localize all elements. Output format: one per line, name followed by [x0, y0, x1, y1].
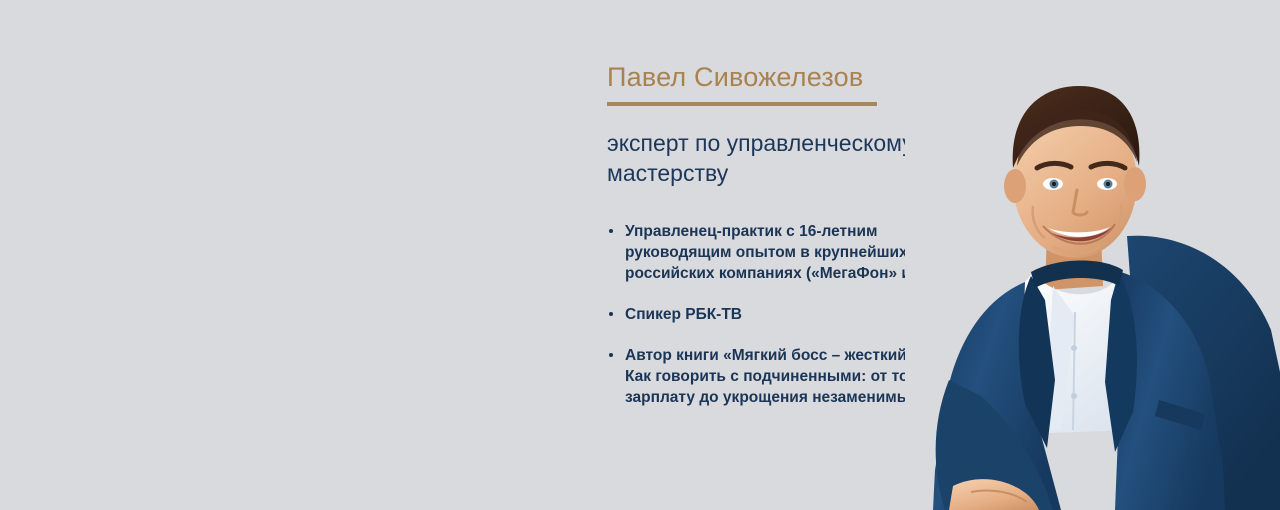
speaker-portrait-photo: [905, 0, 1280, 510]
title-underline-rule: [607, 102, 877, 106]
speaker-role-subtitle: эксперт по управленческому мастерству: [607, 128, 952, 188]
portrait-illustration: [905, 0, 1280, 510]
bullet-dot-icon: [609, 312, 613, 316]
speaker-slide: Павел Сивожелезов эксперт по управленчес…: [0, 0, 1280, 510]
list-item-label: Управленец-практик с 16-летним руководящ…: [625, 223, 944, 282]
list-item-label: Спикер РБК-ТВ: [625, 306, 742, 323]
bullet-dot-icon: [609, 353, 613, 357]
bullet-dot-icon: [609, 229, 613, 233]
